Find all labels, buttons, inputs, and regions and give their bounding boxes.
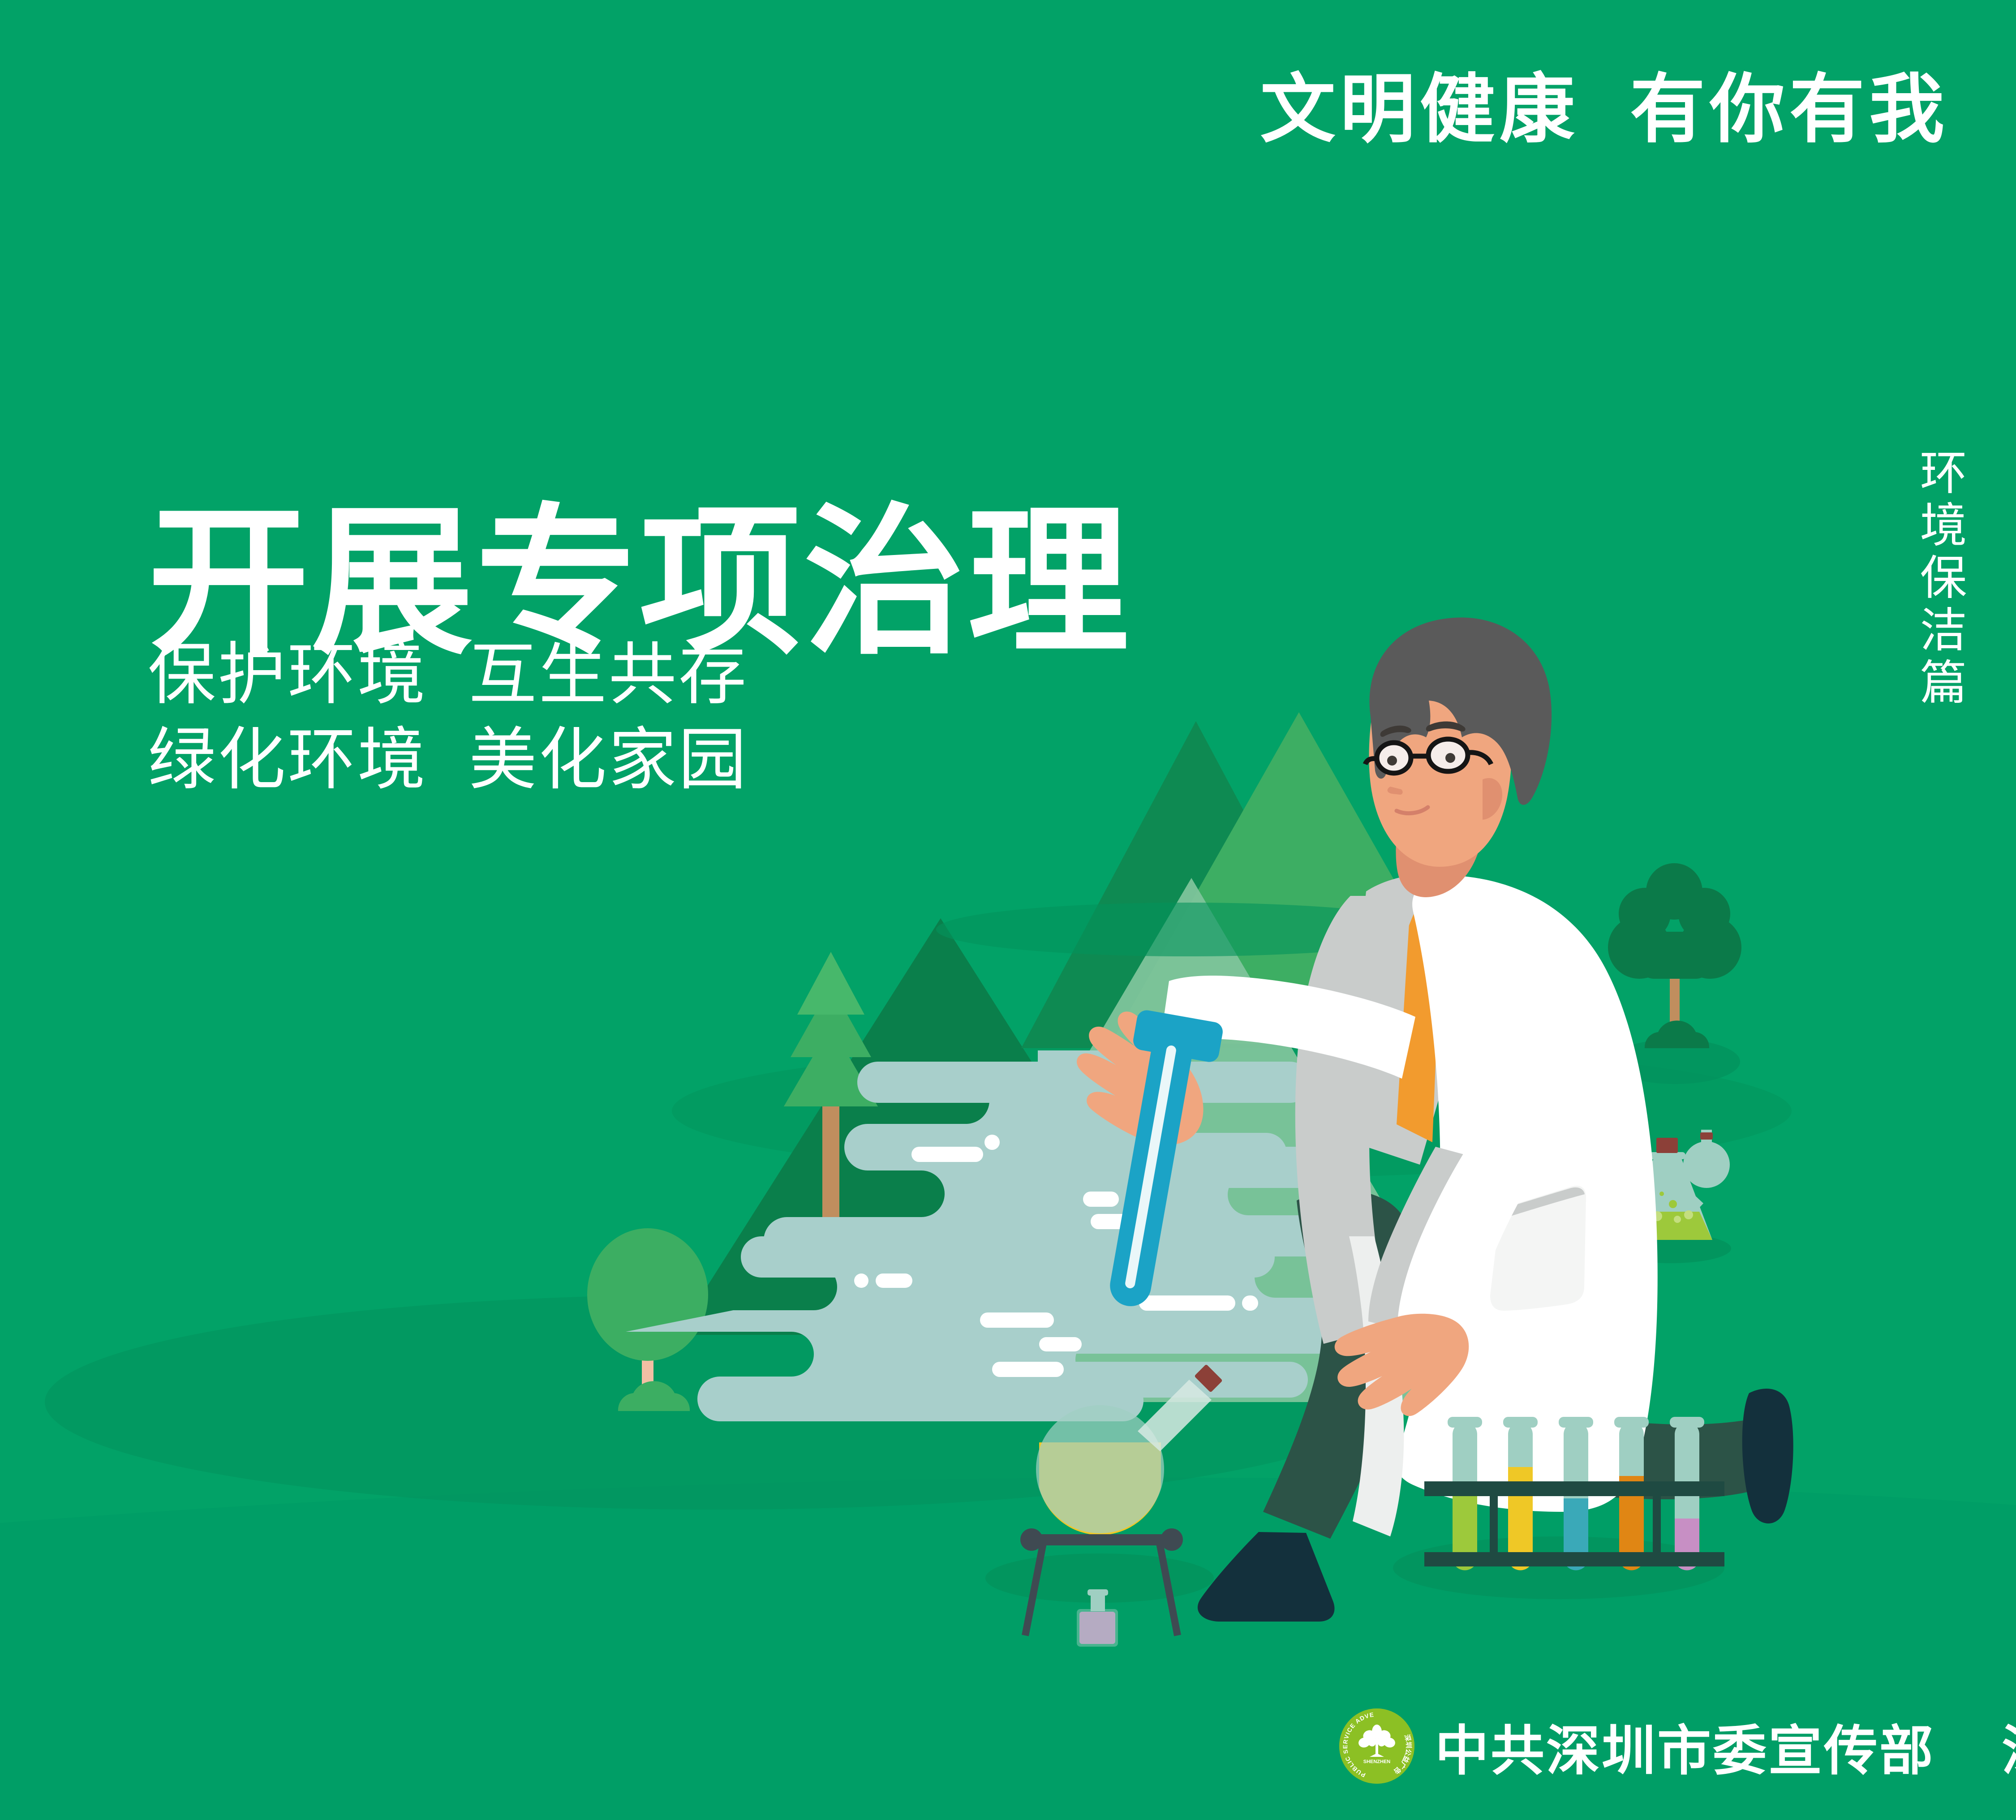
bubble xyxy=(1659,1192,1664,1196)
poster-canvas: 文明健康 有你有我 开展专项治理 保护环境 互生共存 绿化环境 美化家园 环境保… xyxy=(0,0,2016,1820)
rack-post-right xyxy=(1653,1481,1661,1566)
rack-top-bar xyxy=(1424,1481,1724,1496)
water-highlight xyxy=(876,1274,912,1288)
round-tree-crown xyxy=(587,1228,708,1361)
bubble xyxy=(1669,1200,1677,1208)
erlenmeyer-cork xyxy=(1656,1138,1678,1153)
subtitle-line-2: 绿化环境 美化家园 xyxy=(148,726,748,794)
water-highlight xyxy=(1083,1192,1119,1207)
bubble xyxy=(1674,1216,1681,1223)
bubble xyxy=(1684,1210,1693,1219)
top-slogan: 文明健康 有你有我 xyxy=(1260,72,1949,147)
subtitle-line-1: 保护环境 互生共存 xyxy=(148,641,748,709)
tripod-bar xyxy=(1030,1534,1173,1545)
water-highlight xyxy=(992,1362,1064,1377)
shenzhen-psa-logo-icon: 深圳公益广告 PUBLIC SERVICE ADVERTISING xyxy=(1339,1708,1414,1784)
eye-right xyxy=(1445,753,1455,763)
sidearm-cork xyxy=(1700,1132,1713,1140)
water-highlight xyxy=(984,1135,1000,1150)
logo-city-text: SHENZHEN xyxy=(1363,1759,1391,1764)
burner-body-glass xyxy=(1077,1609,1118,1647)
water-highlight xyxy=(980,1312,1054,1328)
bushy-crown-core xyxy=(1636,932,1714,979)
illustration xyxy=(0,0,2016,1820)
erlenmeyer-mouth xyxy=(1650,1152,1685,1159)
rack-bottom-bar xyxy=(1424,1552,1724,1566)
footer-credit: 中共深圳市委宣传部 深圳市文明办 xyxy=(1435,1707,2016,1785)
footer: 深圳公益广告 PUBLIC SERVICE ADVERTISING xyxy=(1339,1707,2016,1785)
water-highlight xyxy=(911,1147,983,1162)
rack-post-left xyxy=(1490,1481,1498,1566)
water-highlight xyxy=(854,1274,868,1288)
series-label-vertical: 环境保洁篇 xyxy=(1906,448,1969,710)
eye-left xyxy=(1387,756,1397,766)
front-shoe xyxy=(1742,1389,1793,1523)
water-highlight xyxy=(1139,1295,1235,1311)
water-highlight xyxy=(1242,1295,1258,1311)
water-highlight xyxy=(1039,1337,1082,1351)
burner-cap xyxy=(1088,1589,1108,1596)
